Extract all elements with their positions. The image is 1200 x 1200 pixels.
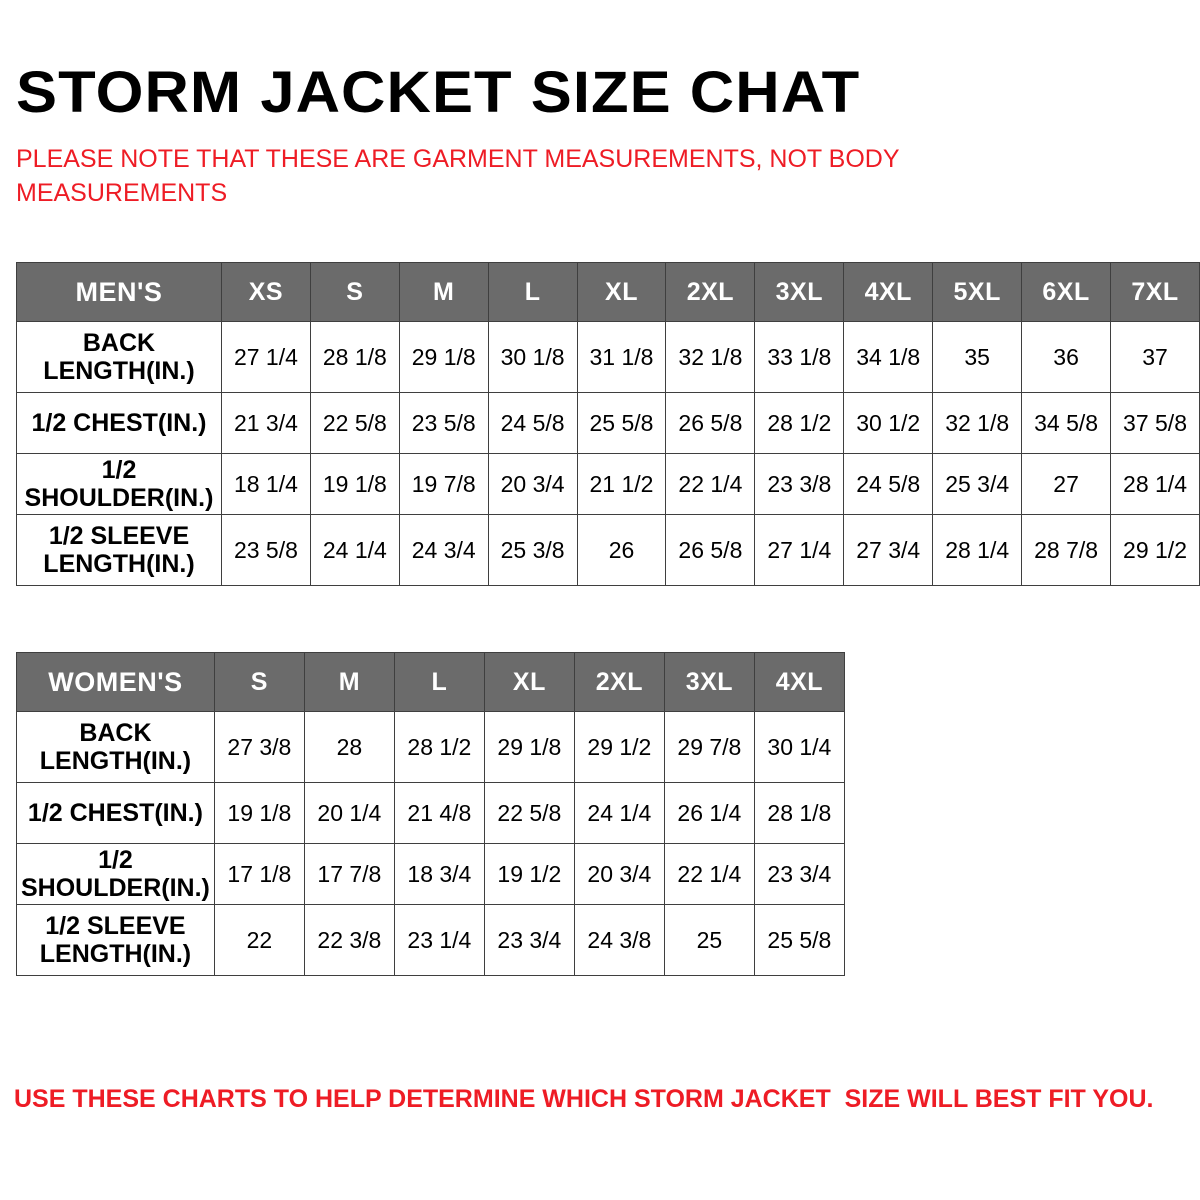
mens-row-label-0: BACKLENGTH(IN.) — [17, 322, 222, 393]
mens-row-label-3: 1/2 SLEEVELENGTH(IN.) — [17, 515, 222, 586]
table-row: 1/2 SLEEVELENGTH(IN.)2222 3/823 1/423 3/… — [17, 905, 845, 976]
measurement-cell: 18 3/4 — [394, 844, 484, 905]
womens-row-label-3: 1/2 SLEEVELENGTH(IN.) — [17, 905, 215, 976]
measurement-cell: 27 3/8 — [214, 712, 304, 783]
womens-size-header-s: S — [214, 653, 304, 712]
womens-size-header-4xl: 4XL — [754, 653, 844, 712]
measurement-cell: 37 5/8 — [1111, 393, 1200, 454]
mens-size-table: MEN'SXSSMLXL2XL3XL4XL5XL6XL7XL BACKLENGT… — [16, 262, 1200, 586]
measurement-cell: 27 3/4 — [844, 515, 933, 586]
measurement-cell: 20 3/4 — [574, 844, 664, 905]
mens-size-header-4xl: 4XL — [844, 263, 933, 322]
measurement-cell: 34 5/8 — [1022, 393, 1111, 454]
measurement-cell: 23 3/8 — [755, 454, 844, 515]
measurement-cell: 21 1/2 — [577, 454, 666, 515]
measurement-cell: 19 1/2 — [484, 844, 574, 905]
measurement-cell: 28 1/2 — [394, 712, 484, 783]
measurement-cell: 21 4/8 — [394, 783, 484, 844]
table-row: 1/2 CHEST(IN.)19 1/820 1/421 4/822 5/824… — [17, 783, 845, 844]
measurement-cell: 24 5/8 — [488, 393, 577, 454]
measurement-cell: 24 1/4 — [574, 783, 664, 844]
table-row: 1/2 SHOULDER(IN.)17 1/817 7/818 3/419 1/… — [17, 844, 845, 905]
garment-measurement-note: PLEASE NOTE THAT THESE ARE GARMENT MEASU… — [16, 143, 1036, 211]
mens-header-row: MEN'SXSSMLXL2XL3XL4XL5XL6XL7XL — [17, 263, 1200, 322]
measurement-cell: 28 1/4 — [933, 515, 1022, 586]
mens-size-header-3xl: 3XL — [755, 263, 844, 322]
womens-size-header-l: L — [394, 653, 484, 712]
measurement-cell: 22 1/4 — [664, 844, 754, 905]
measurement-cell: 32 1/8 — [666, 322, 755, 393]
measurement-cell: 28 1/8 — [754, 783, 844, 844]
measurement-cell: 28 1/8 — [310, 322, 399, 393]
measurement-cell: 28 7/8 — [1022, 515, 1111, 586]
measurement-cell: 23 5/8 — [221, 515, 310, 586]
measurement-cell: 29 7/8 — [664, 712, 754, 783]
mens-size-header-xl: XL — [577, 263, 666, 322]
measurement-cell: 19 1/8 — [214, 783, 304, 844]
measurement-cell: 22 3/8 — [304, 905, 394, 976]
womens-table-body: BACKLENGTH(IN.)27 3/82828 1/229 1/829 1/… — [17, 712, 845, 976]
womens-header-row: WOMEN'SSMLXL2XL3XL4XL — [17, 653, 845, 712]
measurement-cell: 29 1/2 — [1111, 515, 1200, 586]
mens-row-label-1: 1/2 CHEST(IN.) — [17, 393, 222, 454]
measurement-cell: 20 1/4 — [304, 783, 394, 844]
womens-corner-label: WOMEN'S — [17, 653, 215, 712]
measurement-cell: 28 1/2 — [755, 393, 844, 454]
table-row: 1/2 CHEST(IN.)21 3/422 5/823 5/824 5/825… — [17, 393, 1200, 454]
measurement-cell: 28 — [304, 712, 394, 783]
measurement-cell: 24 3/4 — [399, 515, 488, 586]
womens-row-label-0: BACKLENGTH(IN.) — [17, 712, 215, 783]
measurement-cell: 31 1/8 — [577, 322, 666, 393]
measurement-cell: 24 5/8 — [844, 454, 933, 515]
mens-table-body: BACKLENGTH(IN.)27 1/428 1/829 1/830 1/83… — [17, 322, 1200, 586]
womens-size-header-xl: XL — [484, 653, 574, 712]
measurement-cell: 22 5/8 — [310, 393, 399, 454]
measurement-cell: 25 5/8 — [754, 905, 844, 976]
measurement-cell: 26 1/4 — [664, 783, 754, 844]
measurement-cell: 33 1/8 — [755, 322, 844, 393]
mens-table-head: MEN'SXSSMLXL2XL3XL4XL5XL6XL7XL — [17, 263, 1200, 322]
measurement-cell: 25 5/8 — [577, 393, 666, 454]
measurement-cell: 24 3/8 — [574, 905, 664, 976]
measurement-cell: 23 3/4 — [754, 844, 844, 905]
womens-size-header-2xl: 2XL — [574, 653, 664, 712]
measurement-cell: 28 1/4 — [1111, 454, 1200, 515]
measurement-cell: 26 5/8 — [666, 515, 755, 586]
measurement-cell: 17 7/8 — [304, 844, 394, 905]
measurement-cell: 35 — [933, 322, 1022, 393]
measurement-cell: 22 — [214, 905, 304, 976]
measurement-cell: 30 1/4 — [754, 712, 844, 783]
table-row: 1/2 SHOULDER(IN.)18 1/419 1/819 7/820 3/… — [17, 454, 1200, 515]
womens-table-head: WOMEN'SSMLXL2XL3XL4XL — [17, 653, 845, 712]
mens-size-header-s: S — [310, 263, 399, 322]
mens-size-header-7xl: 7XL — [1111, 263, 1200, 322]
mens-size-header-6xl: 6XL — [1022, 263, 1111, 322]
mens-size-header-l: L — [488, 263, 577, 322]
measurement-cell: 18 1/4 — [221, 454, 310, 515]
measurement-cell: 22 1/4 — [666, 454, 755, 515]
table-row: BACKLENGTH(IN.)27 3/82828 1/229 1/829 1/… — [17, 712, 845, 783]
measurement-cell: 29 1/8 — [399, 322, 488, 393]
measurement-cell: 17 1/8 — [214, 844, 304, 905]
measurement-cell: 30 1/2 — [844, 393, 933, 454]
measurement-cell: 19 7/8 — [399, 454, 488, 515]
mens-row-label-2: 1/2 SHOULDER(IN.) — [17, 454, 222, 515]
table-row: BACKLENGTH(IN.)27 1/428 1/829 1/830 1/83… — [17, 322, 1200, 393]
measurement-cell: 34 1/8 — [844, 322, 933, 393]
page-title: STORM JACKET SIZE CHAT — [16, 63, 860, 124]
womens-size-table: WOMEN'SSMLXL2XL3XL4XL BACKLENGTH(IN.)27 … — [16, 652, 845, 976]
measurement-cell: 27 1/4 — [221, 322, 310, 393]
table-row: 1/2 SLEEVELENGTH(IN.)23 5/824 1/424 3/42… — [17, 515, 1200, 586]
measurement-cell: 36 — [1022, 322, 1111, 393]
mens-size-header-2xl: 2XL — [666, 263, 755, 322]
womens-size-header-3xl: 3XL — [664, 653, 754, 712]
mens-size-header-m: M — [399, 263, 488, 322]
measurement-cell: 22 5/8 — [484, 783, 574, 844]
measurement-cell: 32 1/8 — [933, 393, 1022, 454]
measurement-cell: 21 3/4 — [221, 393, 310, 454]
mens-size-header-5xl: 5XL — [933, 263, 1022, 322]
measurement-cell: 27 1/4 — [755, 515, 844, 586]
measurement-cell: 23 1/4 — [394, 905, 484, 976]
measurement-cell: 29 1/2 — [574, 712, 664, 783]
measurement-cell: 24 1/4 — [310, 515, 399, 586]
womens-row-label-2: 1/2 SHOULDER(IN.) — [17, 844, 215, 905]
measurement-cell: 26 5/8 — [666, 393, 755, 454]
measurement-cell: 29 1/8 — [484, 712, 574, 783]
measurement-cell: 19 1/8 — [310, 454, 399, 515]
womens-size-header-m: M — [304, 653, 394, 712]
measurement-cell: 27 — [1022, 454, 1111, 515]
measurement-cell: 23 3/4 — [484, 905, 574, 976]
measurement-cell: 30 1/8 — [488, 322, 577, 393]
measurement-cell: 23 5/8 — [399, 393, 488, 454]
womens-row-label-1: 1/2 CHEST(IN.) — [17, 783, 215, 844]
usage-note: USE THESE CHARTS TO HELP DETERMINE WHICH… — [14, 1083, 1174, 1116]
size-chart-page: STORM JACKET SIZE CHAT PLEASE NOTE THAT … — [0, 0, 1200, 1200]
mens-corner-label: MEN'S — [17, 263, 222, 322]
measurement-cell: 25 3/4 — [933, 454, 1022, 515]
mens-size-header-xs: XS — [221, 263, 310, 322]
measurement-cell: 25 — [664, 905, 754, 976]
measurement-cell: 37 — [1111, 322, 1200, 393]
measurement-cell: 25 3/8 — [488, 515, 577, 586]
measurement-cell: 20 3/4 — [488, 454, 577, 515]
measurement-cell: 26 — [577, 515, 666, 586]
